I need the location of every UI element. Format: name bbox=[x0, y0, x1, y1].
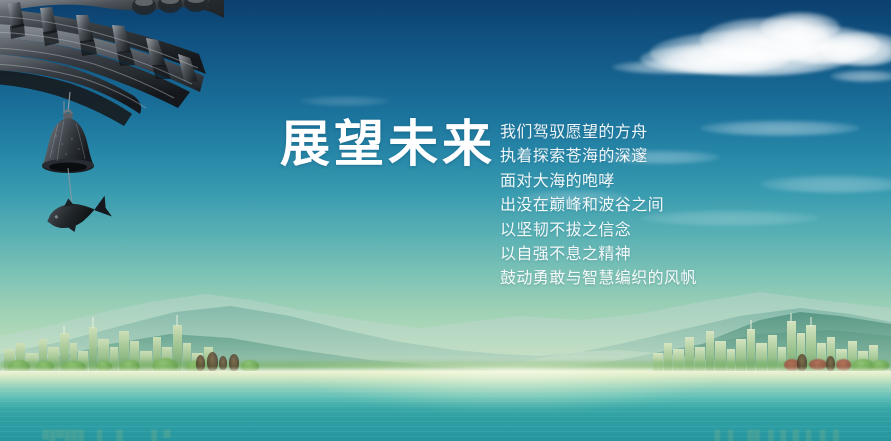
poem-line: 以自强不息之精神 bbox=[500, 242, 697, 266]
poem-line: 以坚韧不拔之信念 bbox=[500, 218, 697, 242]
building-antenna bbox=[750, 313, 812, 330]
promotional-banner: 展望未来 我们驾驭愿望的方舟 执着探索苍海的深邃 面对大海的咆哮 出没在巅峰和波… bbox=[0, 0, 891, 441]
poem-block: 我们驾驭愿望的方舟 执着探索苍海的深邃 面对大海的咆哮 出没在巅峰和波谷之间 以… bbox=[500, 120, 697, 291]
poem-line: 鼓动勇敢与智慧编织的风帆 bbox=[500, 266, 697, 290]
poem-line: 面对大海的咆哮 bbox=[500, 169, 697, 193]
water-surface bbox=[0, 371, 891, 441]
poem-line: 出没在巅峰和波谷之间 bbox=[500, 193, 697, 217]
poem-line: 执着探索苍海的深邃 bbox=[500, 144, 697, 168]
page-title: 展望未来 bbox=[280, 119, 496, 169]
poem-line: 我们驾驭愿望的方舟 bbox=[500, 120, 697, 144]
